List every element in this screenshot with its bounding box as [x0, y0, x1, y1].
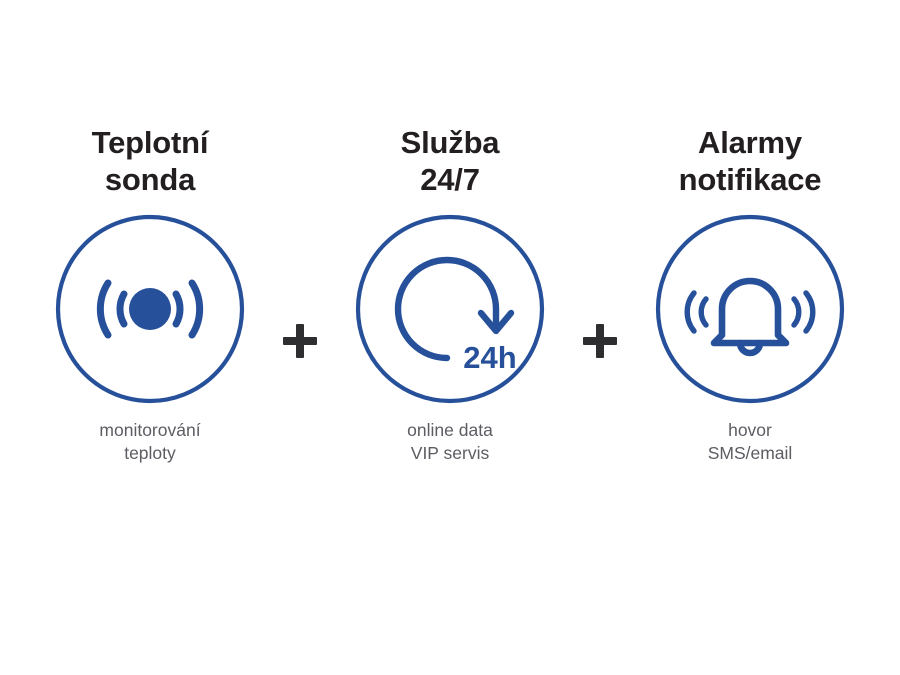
feature-title-temperature-probe: Teplotní sonda — [92, 125, 209, 207]
wave-left-outer — [100, 283, 108, 335]
sound-wave-right-inner — [794, 299, 799, 325]
feature-caption-alarms-notifications: hovor SMS/email — [708, 419, 793, 466]
feature-title-alarms-notifications: Alarmy notifikace — [679, 125, 822, 207]
separator-plus-2 — [575, 125, 625, 505]
wave-right-inner — [176, 294, 180, 324]
feature-caption-temperature-probe: monitorování teploty — [99, 419, 200, 466]
features-row: Teplotní sonda monitorování teploty — [0, 125, 900, 505]
plus-icon — [583, 324, 617, 358]
infographic-canvas: Teplotní sonda monitorování teploty — [0, 0, 900, 675]
ringing-bell-icon — [687, 281, 813, 353]
signal-sensor-icon — [100, 283, 199, 335]
sound-wave-left-outer — [687, 293, 694, 331]
sound-wave-left-inner — [701, 299, 706, 325]
rotating-arrow-24h-icon: 24h — [398, 260, 517, 375]
icon-circle-service-24-7: 24h — [354, 213, 546, 405]
feature-service-24-7: Služba 24/7 24h online data VIP servis — [325, 125, 575, 466]
sound-wave-right-outer — [806, 293, 813, 331]
separator-plus-1 — [275, 125, 325, 505]
icon-circle-alarms-notifications — [654, 213, 846, 405]
icon-label-24h: 24h — [463, 340, 516, 375]
feature-alarms-notifications: Alarmy notifikace hovor SMS/email — [625, 125, 875, 466]
feature-caption-service-24-7: online data VIP servis — [407, 419, 493, 466]
feature-temperature-probe: Teplotní sonda monitorování teploty — [25, 125, 275, 466]
wave-left-inner — [120, 294, 124, 324]
plus-icon — [283, 324, 317, 358]
icon-circle-temperature-probe — [54, 213, 246, 405]
bell-body — [714, 281, 786, 343]
feature-title-service-24-7: Služba 24/7 — [401, 125, 500, 207]
wave-right-outer — [192, 283, 200, 335]
sensor-core-dot — [129, 288, 171, 330]
